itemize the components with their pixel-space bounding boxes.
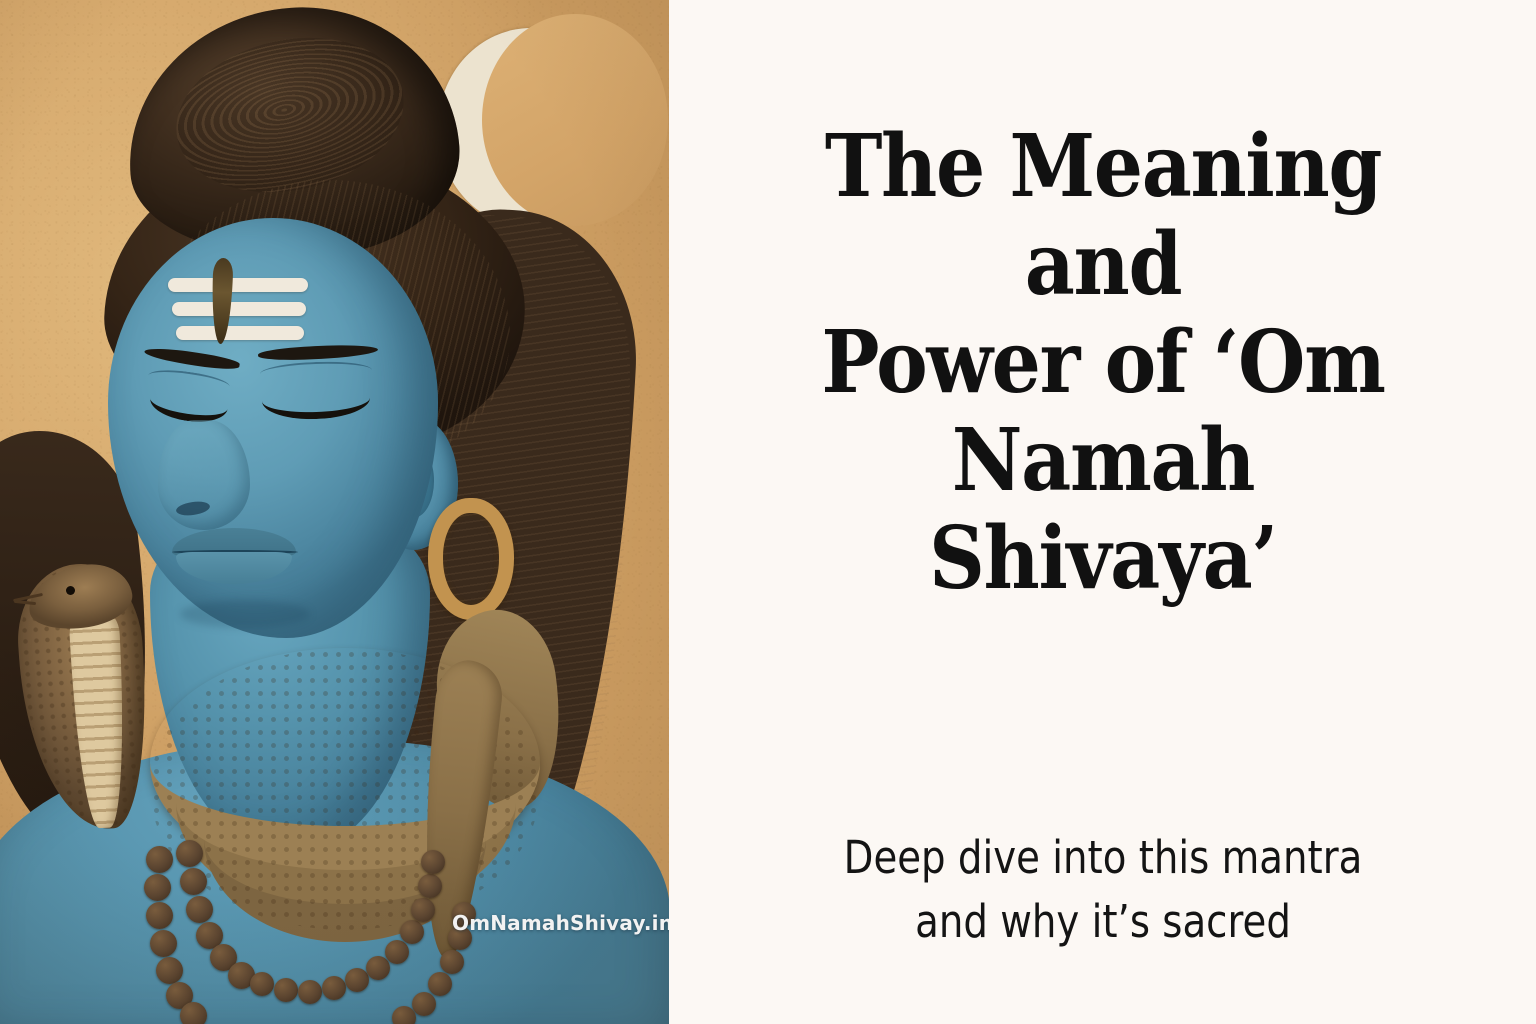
vignette-overlay bbox=[0, 0, 669, 1024]
shiva-illustration-panel: OmNamahShivay.in bbox=[0, 0, 669, 1024]
page-title: The Meaning and Power of ‘Om Namah Shiva… bbox=[770, 118, 1436, 608]
subtitle-line-1: Deep dive into this mantra bbox=[843, 831, 1362, 884]
poster-canvas: OmNamahShivay.in The Meaning and Power o… bbox=[0, 0, 1536, 1024]
title-line-3: Namah Shivaya’ bbox=[929, 410, 1277, 609]
subtitle-line-2: and why it’s sacred bbox=[915, 895, 1291, 948]
site-watermark: OmNamahShivay.in bbox=[452, 911, 669, 935]
title-line-2: Power of ‘Om bbox=[821, 312, 1384, 413]
title-line-1: The Meaning and bbox=[824, 116, 1380, 315]
page-subtitle: Deep dive into this mantra and why it’s … bbox=[802, 826, 1404, 954]
text-panel: The Meaning and Power of ‘Om Namah Shiva… bbox=[669, 0, 1536, 1024]
